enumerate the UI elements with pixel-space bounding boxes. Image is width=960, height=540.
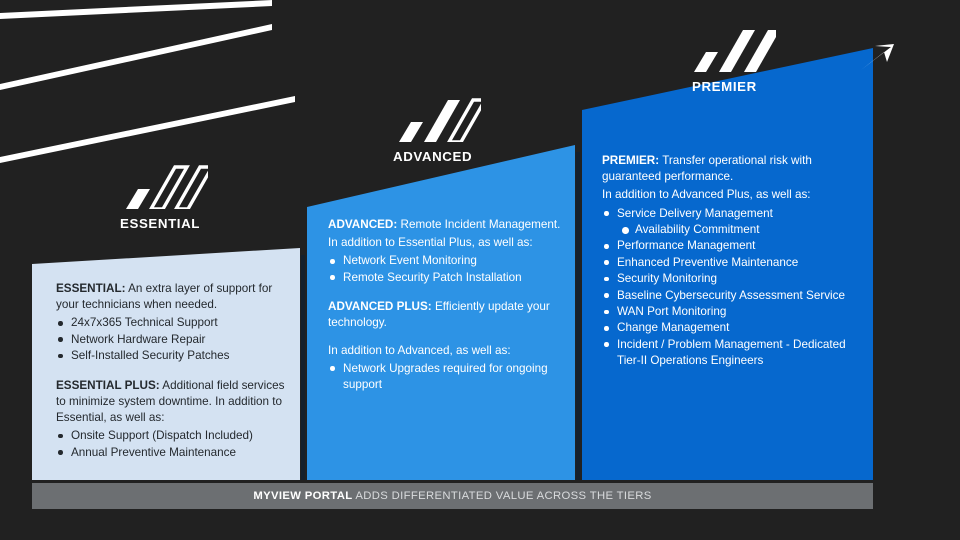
essential-heading-2: ESSENTIAL PLUS: [56, 379, 160, 392]
list-item: Change Management [602, 320, 862, 336]
advanced-lead-2: ADVANCED PLUS: Efficiently update your t… [328, 299, 564, 331]
premier-lead-1: PREMIER: Transfer operational risk with … [602, 153, 862, 185]
list-item-label: WAN Port Monitoring [617, 305, 726, 318]
bullet-dot-icon [58, 354, 63, 359]
advanced-lead2-1: In addition to Essential Plus, as well a… [328, 235, 564, 251]
essential-top-edge [0, 0, 272, 24]
spacer [328, 334, 564, 343]
advanced-bullets-1: Network Event Monitoring Remote Security… [328, 253, 564, 286]
bullet-dot-icon [604, 326, 609, 331]
list-item-label: Security Monitoring [617, 272, 717, 285]
advanced-bullets-2: Network Upgrades required for ongoing su… [328, 361, 564, 394]
advanced-heading-1: ADVANCED: [328, 218, 397, 231]
list-item: Network Upgrades required for ongoing su… [328, 361, 564, 394]
list-item-label: Self-Installed Security Patches [71, 349, 230, 362]
advanced-lead2-2: In addition to Advanced, as well as: [328, 343, 564, 359]
bullet-dot-icon [604, 293, 609, 298]
badge-advanced-label: ADVANCED [393, 149, 481, 164]
advanced-content: ADVANCED: Remote Incident Management. In… [328, 217, 564, 394]
badge-premier-label: PREMIER [692, 79, 776, 94]
advanced-lead-1: ADVANCED: Remote Incident Management. [328, 217, 564, 233]
advanced-top-edge [0, 24, 272, 96]
list-item: Security Monitoring [602, 271, 862, 287]
list-item-label: Incident / Problem Management - Dedicate… [617, 338, 846, 367]
spacer [56, 365, 294, 378]
list-item: Network Hardware Repair [56, 332, 294, 348]
list-item-label: Service Delivery Management [617, 207, 773, 220]
list-item-label: Availability Commitment [635, 223, 760, 236]
bars-ascending-three-filled-icon [688, 26, 776, 77]
bullet-dot-icon [604, 260, 609, 265]
bars-ascending-two-filled-icon [393, 96, 481, 147]
list-item-label: Remote Security Patch Installation [343, 271, 522, 284]
badge-essential[interactable]: ESSENTIAL [120, 163, 208, 231]
list-item: Enhanced Preventive Maintenance [602, 255, 862, 271]
arrow-tip-icon [861, 44, 895, 72]
bars-ascending-one-filled-icon [120, 163, 208, 214]
list-item: Performance Management [602, 238, 862, 254]
essential-bullets-1: 24x7x365 Technical Support Network Hardw… [56, 315, 294, 364]
list-item-label: Network Event Monitoring [343, 254, 477, 267]
footer-bar: MYVIEW PORTAL ADDS DIFFERENTIATED VALUE … [32, 483, 873, 509]
list-item: Remote Security Patch Installation [328, 270, 564, 286]
column-divider-essential-advanced [301, 255, 305, 480]
list-item-sub: Availability Commitment [602, 222, 862, 238]
column-divider-advanced-premier [576, 152, 580, 480]
list-item-label: Network Upgrades required for ongoing su… [343, 362, 548, 391]
bullet-dot-icon [330, 259, 335, 264]
bullet-dot-icon [604, 342, 609, 347]
bullet-dot-icon [58, 434, 63, 439]
premier-bullets: Service Delivery Management Availability… [602, 206, 862, 370]
badge-advanced[interactable]: ADVANCED [393, 96, 481, 164]
list-item: WAN Port Monitoring [602, 304, 862, 320]
list-item-label: 24x7x365 Technical Support [71, 316, 218, 329]
list-item: Service Delivery Management [602, 206, 862, 222]
advanced-heading-2: ADVANCED PLUS: [328, 300, 432, 313]
footer-text-rest: ADDS DIFFERENTIATED VALUE ACROSS THE TIE… [352, 490, 651, 502]
list-item: Incident / Problem Management - Dedicate… [602, 337, 862, 370]
list-item-label: Network Hardware Repair [71, 333, 205, 346]
list-item: Network Event Monitoring [328, 253, 564, 269]
list-item: Self-Installed Security Patches [56, 348, 294, 364]
list-item-label: Performance Management [617, 239, 755, 252]
spacer [328, 286, 564, 299]
footer-text: MYVIEW PORTAL ADDS DIFFERENTIATED VALUE … [253, 490, 651, 502]
list-item-label: Change Management [617, 321, 729, 334]
essential-bullets-2: Onsite Support (Dispatch Included) Annua… [56, 428, 294, 461]
advanced-lead-text-1: Remote Incident Management. [401, 218, 561, 231]
bullet-dot-icon [604, 277, 609, 282]
badge-premier[interactable]: PREMIER [688, 26, 776, 94]
premier-lead2-1: In addition to Advanced Plus, as well as… [602, 187, 862, 203]
list-item-label: Baseline Cybersecurity Assessment Servic… [617, 289, 845, 302]
tier-diagram: ESSENTIAL ADVANCED PREMIER ESSENTIAL: An… [0, 0, 960, 540]
bullet-dot-icon [604, 244, 609, 249]
essential-heading-1: ESSENTIAL: [56, 282, 125, 295]
essential-content: ESSENTIAL: An extra layer of support for… [56, 281, 294, 461]
list-item: Baseline Cybersecurity Assessment Servic… [602, 288, 862, 304]
bullet-dot-icon [330, 366, 335, 371]
list-item: Annual Preventive Maintenance [56, 445, 294, 461]
list-item-label: Enhanced Preventive Maintenance [617, 256, 798, 269]
list-item-label: Onsite Support (Dispatch Included) [71, 429, 253, 442]
essential-lead-2: ESSENTIAL PLUS: Additional field service… [56, 378, 294, 427]
list-item-label: Annual Preventive Maintenance [71, 446, 236, 459]
badge-essential-label: ESSENTIAL [120, 216, 208, 231]
bullet-dot-icon [58, 337, 63, 342]
list-item: 24x7x365 Technical Support [56, 315, 294, 331]
footer-text-strong: MYVIEW PORTAL [253, 490, 352, 502]
bullet-dot-icon [58, 321, 63, 326]
bullet-dot-icon [604, 310, 609, 315]
essential-lead-1: ESSENTIAL: An extra layer of support for… [56, 281, 294, 313]
premier-content: PREMIER: Transfer operational risk with … [602, 153, 862, 370]
premier-top-edge [0, 96, 295, 170]
bullet-ring-icon [622, 227, 629, 234]
bullet-dot-icon [330, 275, 335, 280]
premier-heading-1: PREMIER: [602, 154, 659, 167]
bullet-dot-icon [58, 450, 63, 455]
list-item: Onsite Support (Dispatch Included) [56, 428, 294, 444]
bullet-dot-icon [604, 211, 609, 216]
